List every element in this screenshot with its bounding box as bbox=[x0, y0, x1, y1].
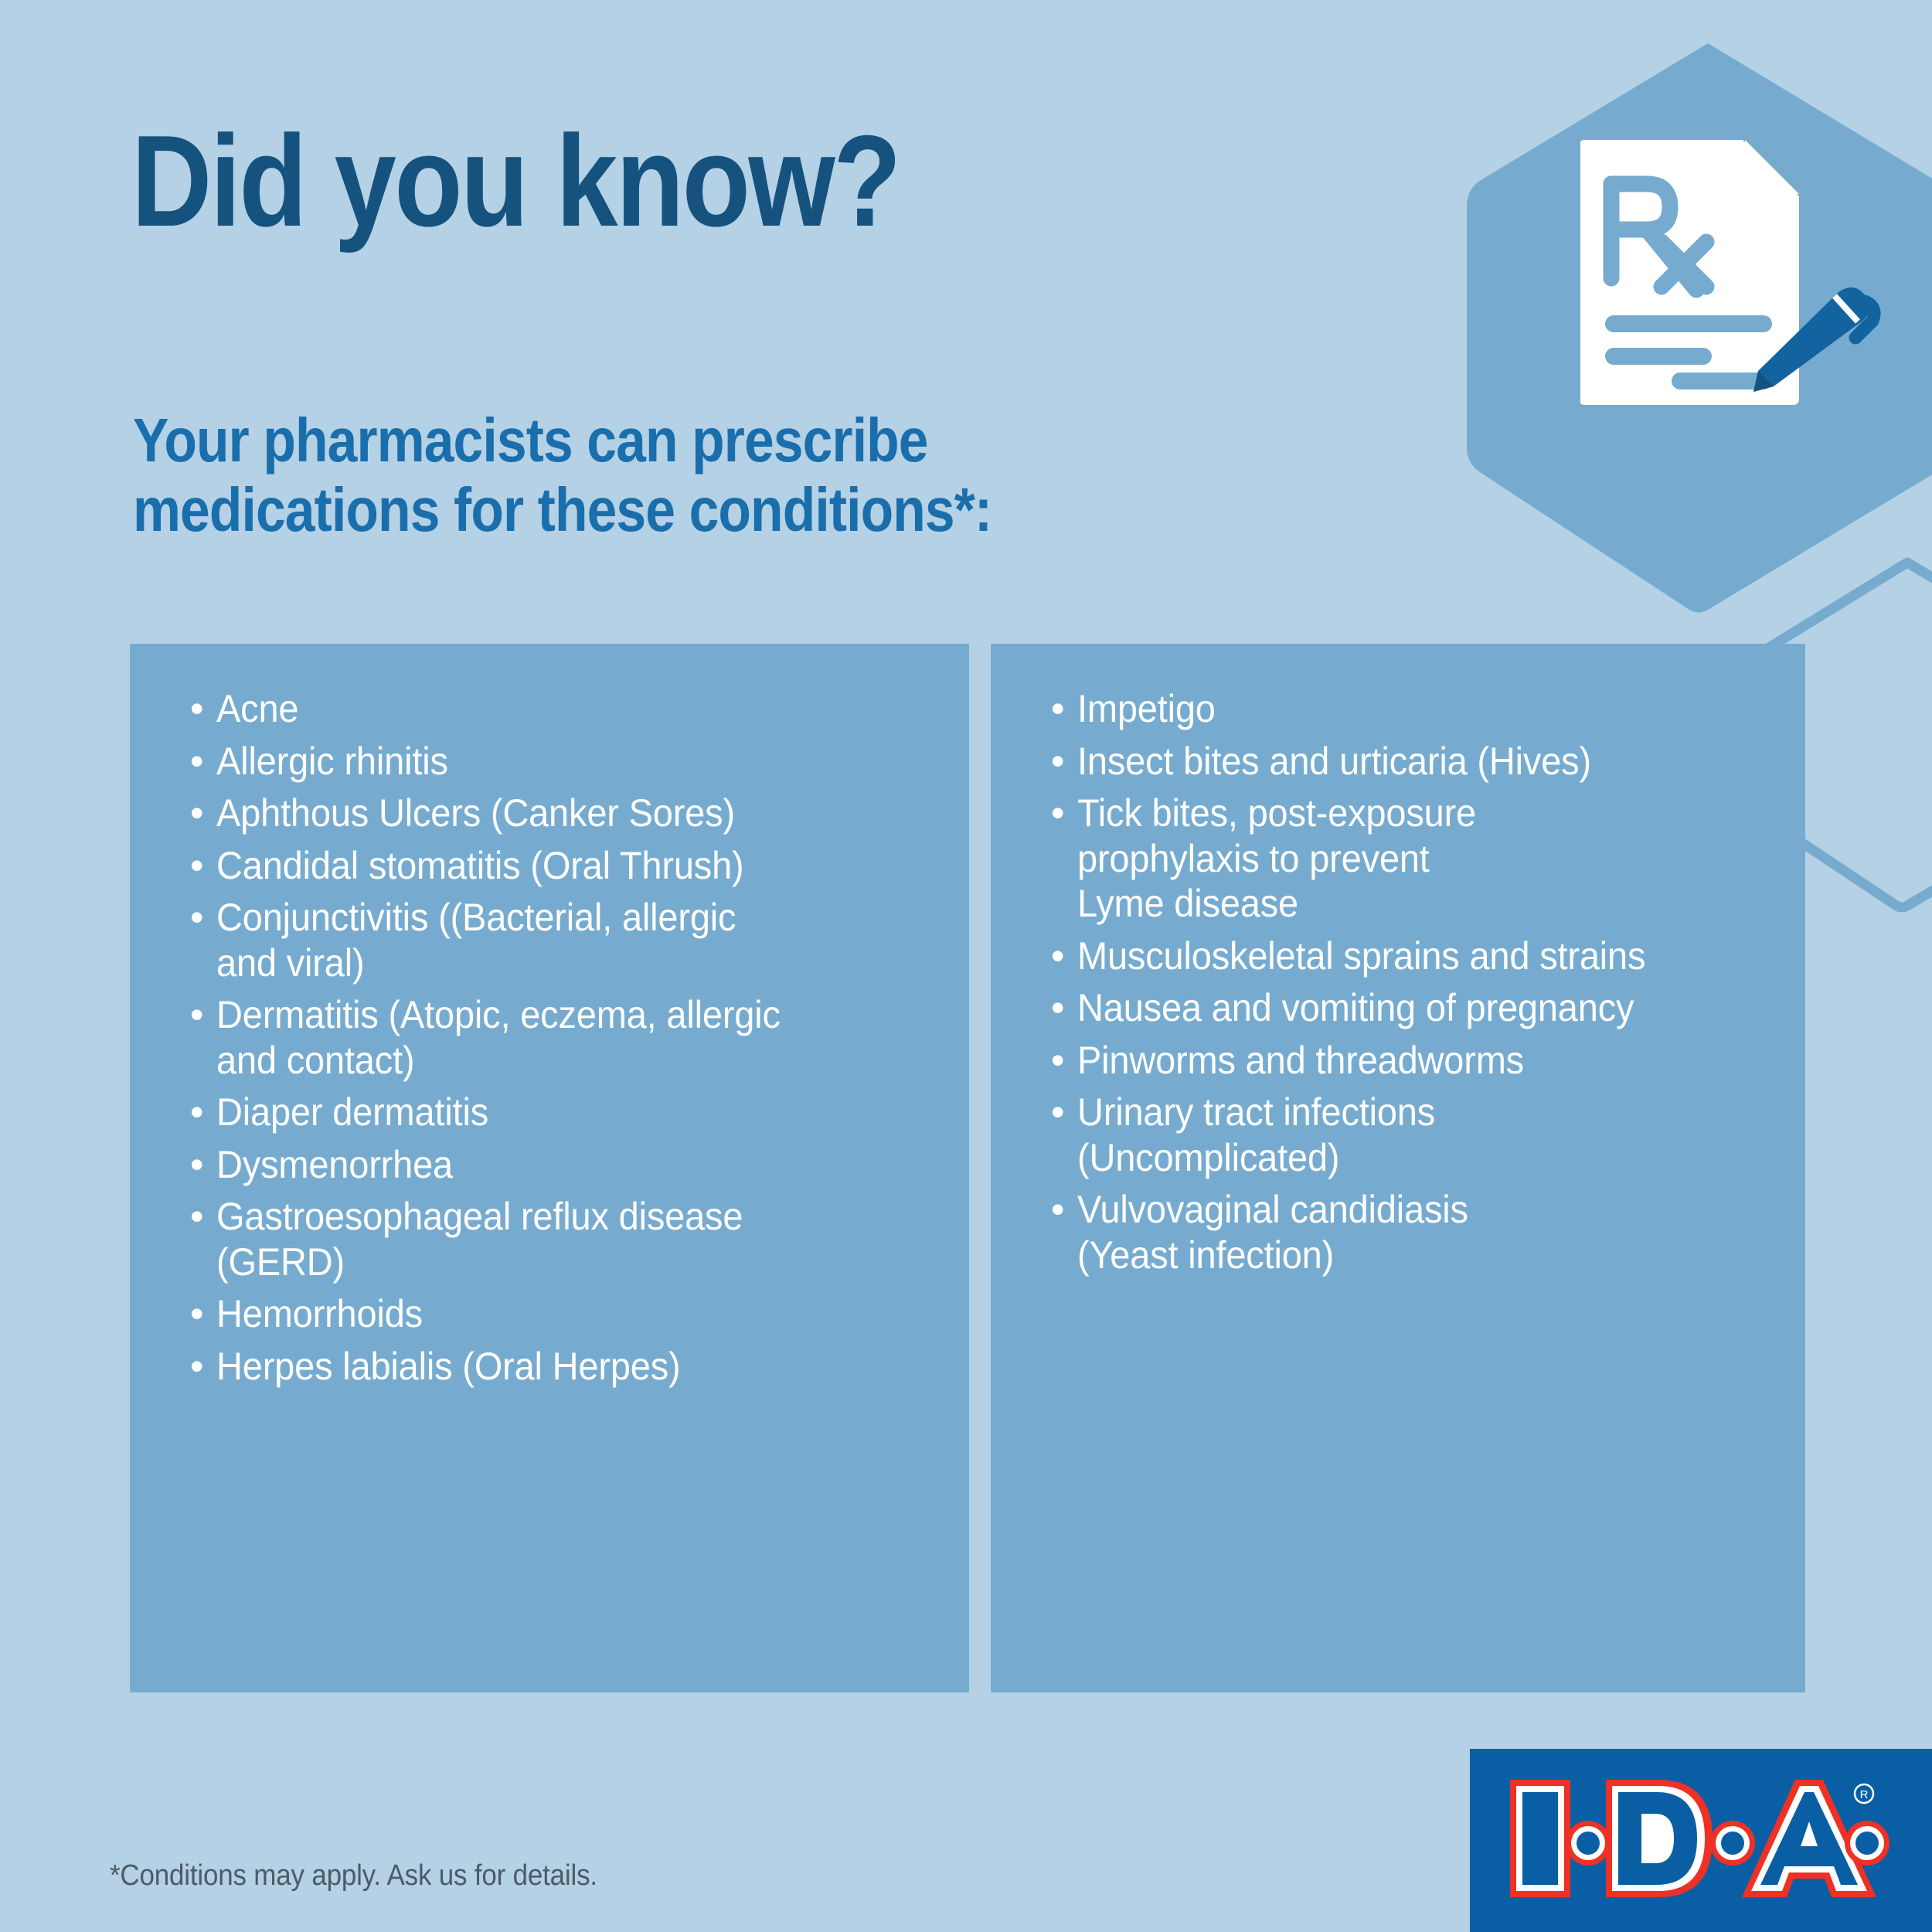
bullet-icon: • bbox=[190, 791, 216, 836]
condition-list-item: •Herpes labialis (Oral Herpes) bbox=[190, 1344, 961, 1389]
condition-list-item: •Tick bites, post-exposure prophylaxis t… bbox=[1051, 791, 1798, 927]
condition-label: Dermatitis (Atopic, eczema, allergic and… bbox=[216, 992, 917, 1083]
page-subtitle: Your pharmacists can prescribe medicatio… bbox=[133, 406, 992, 546]
condition-label: Acne bbox=[216, 686, 917, 732]
bullet-icon: • bbox=[1051, 739, 1077, 784]
condition-label: Tick bites, post-exposure prophylaxis to… bbox=[1077, 791, 1754, 927]
condition-label: Hemorrhoids bbox=[216, 1291, 917, 1337]
bullet-icon: • bbox=[190, 1344, 216, 1389]
condition-list-item: •Urinary tract infections (Uncomplicated… bbox=[1051, 1090, 1798, 1180]
condition-label: Vulvovaginal candidiasis (Yeast infectio… bbox=[1077, 1187, 1754, 1277]
bullet-icon: • bbox=[1051, 791, 1077, 836]
condition-list-item: •Candidal stomatitis (Oral Thrush) bbox=[190, 843, 961, 889]
bullet-icon: • bbox=[190, 1291, 216, 1337]
page-title: Did you know? bbox=[131, 116, 900, 246]
condition-list-item: •Vulvovaginal candidiasis (Yeast infecti… bbox=[1051, 1187, 1798, 1277]
condition-label: Nausea and vomiting of pregnancy bbox=[1077, 985, 1754, 1031]
condition-list-item: •Conjunctivitis ((Bacterial, allergic an… bbox=[190, 895, 961, 985]
condition-list-item: •Acne bbox=[190, 686, 961, 732]
condition-label: Urinary tract infections (Uncomplicated) bbox=[1077, 1090, 1754, 1180]
bullet-icon: • bbox=[190, 1142, 216, 1188]
conditions-list-left: •Acne•Allergic rhinitis•Aphthous Ulcers … bbox=[190, 686, 961, 1396]
bullet-icon: • bbox=[1051, 934, 1077, 979]
bullet-icon: • bbox=[190, 992, 216, 1038]
bullet-icon: • bbox=[190, 895, 216, 940]
condition-list-item: •Impetigo bbox=[1051, 686, 1798, 732]
bullet-icon: • bbox=[190, 843, 216, 889]
condition-label: Herpes labialis (Oral Herpes) bbox=[216, 1344, 917, 1389]
condition-list-item: •Nausea and vomiting of pregnancy bbox=[1051, 985, 1798, 1031]
subtitle-line-1: Your pharmacists can prescribe bbox=[133, 406, 992, 475]
ida-logo-icon: R bbox=[1507, 1777, 1893, 1900]
svg-text:R: R bbox=[1860, 1788, 1869, 1801]
bullet-icon: • bbox=[190, 1194, 216, 1240]
bullet-icon: • bbox=[1051, 1187, 1077, 1233]
condition-list-item: •Musculoskeletal sprains and strains bbox=[1051, 934, 1798, 979]
condition-list-item: •Aphthous Ulcers (Canker Sores) bbox=[190, 791, 961, 836]
conditions-list-right: •Impetigo•Insect bites and urticaria (Hi… bbox=[1051, 686, 1798, 1284]
subtitle-line-2: medications for these conditions*: bbox=[133, 475, 992, 545]
condition-label: Candidal stomatitis (Oral Thrush) bbox=[216, 843, 917, 889]
condition-list-item: •Insect bites and urticaria (Hives) bbox=[1051, 739, 1798, 784]
rx-prescription-icon bbox=[1580, 135, 1882, 410]
bullet-icon: • bbox=[1051, 686, 1077, 732]
condition-label: Aphthous Ulcers (Canker Sores) bbox=[216, 791, 917, 836]
condition-label: Dysmenorrhea bbox=[216, 1142, 917, 1188]
conditions-panel-right: •Impetigo•Insect bites and urticaria (Hi… bbox=[991, 644, 1805, 1692]
condition-label: Conjunctivitis ((Bacterial, allergic and… bbox=[216, 895, 917, 985]
condition-list-item: •Hemorrhoids bbox=[190, 1291, 961, 1337]
bullet-icon: • bbox=[190, 686, 216, 732]
conditions-panel-left: •Acne•Allergic rhinitis•Aphthous Ulcers … bbox=[130, 644, 969, 1692]
condition-label: Diaper dermatitis bbox=[216, 1090, 917, 1135]
condition-label: Pinworms and threadworms bbox=[1077, 1038, 1754, 1083]
ida-logo-container: R bbox=[1470, 1749, 1932, 1932]
condition-label: Musculoskeletal sprains and strains bbox=[1077, 934, 1754, 979]
bullet-icon: • bbox=[1051, 1090, 1077, 1135]
registered-mark-icon: R bbox=[1855, 1784, 1873, 1803]
condition-label: Impetigo bbox=[1077, 686, 1754, 732]
condition-list-item: •Pinworms and threadworms bbox=[1051, 1038, 1798, 1083]
bullet-icon: • bbox=[1051, 985, 1077, 1031]
condition-label: Insect bites and urticaria (Hives) bbox=[1077, 739, 1754, 784]
footnote-text: *Conditions may apply. Ask us for detail… bbox=[110, 1859, 597, 1893]
condition-list-item: •Dysmenorrhea bbox=[190, 1142, 961, 1188]
condition-list-item: •Allergic rhinitis bbox=[190, 739, 961, 784]
condition-list-item: •Dermatitis (Atopic, eczema, allergic an… bbox=[190, 992, 961, 1083]
condition-label: Allergic rhinitis bbox=[216, 739, 917, 784]
bullet-icon: • bbox=[190, 739, 216, 784]
condition-list-item: •Gastroesophageal reflux disease (GERD) bbox=[190, 1194, 961, 1284]
condition-label: Gastroesophageal reflux disease (GERD) bbox=[216, 1194, 917, 1284]
bullet-icon: • bbox=[1051, 1038, 1077, 1083]
condition-list-item: •Diaper dermatitis bbox=[190, 1090, 961, 1135]
bullet-icon: • bbox=[190, 1090, 216, 1135]
